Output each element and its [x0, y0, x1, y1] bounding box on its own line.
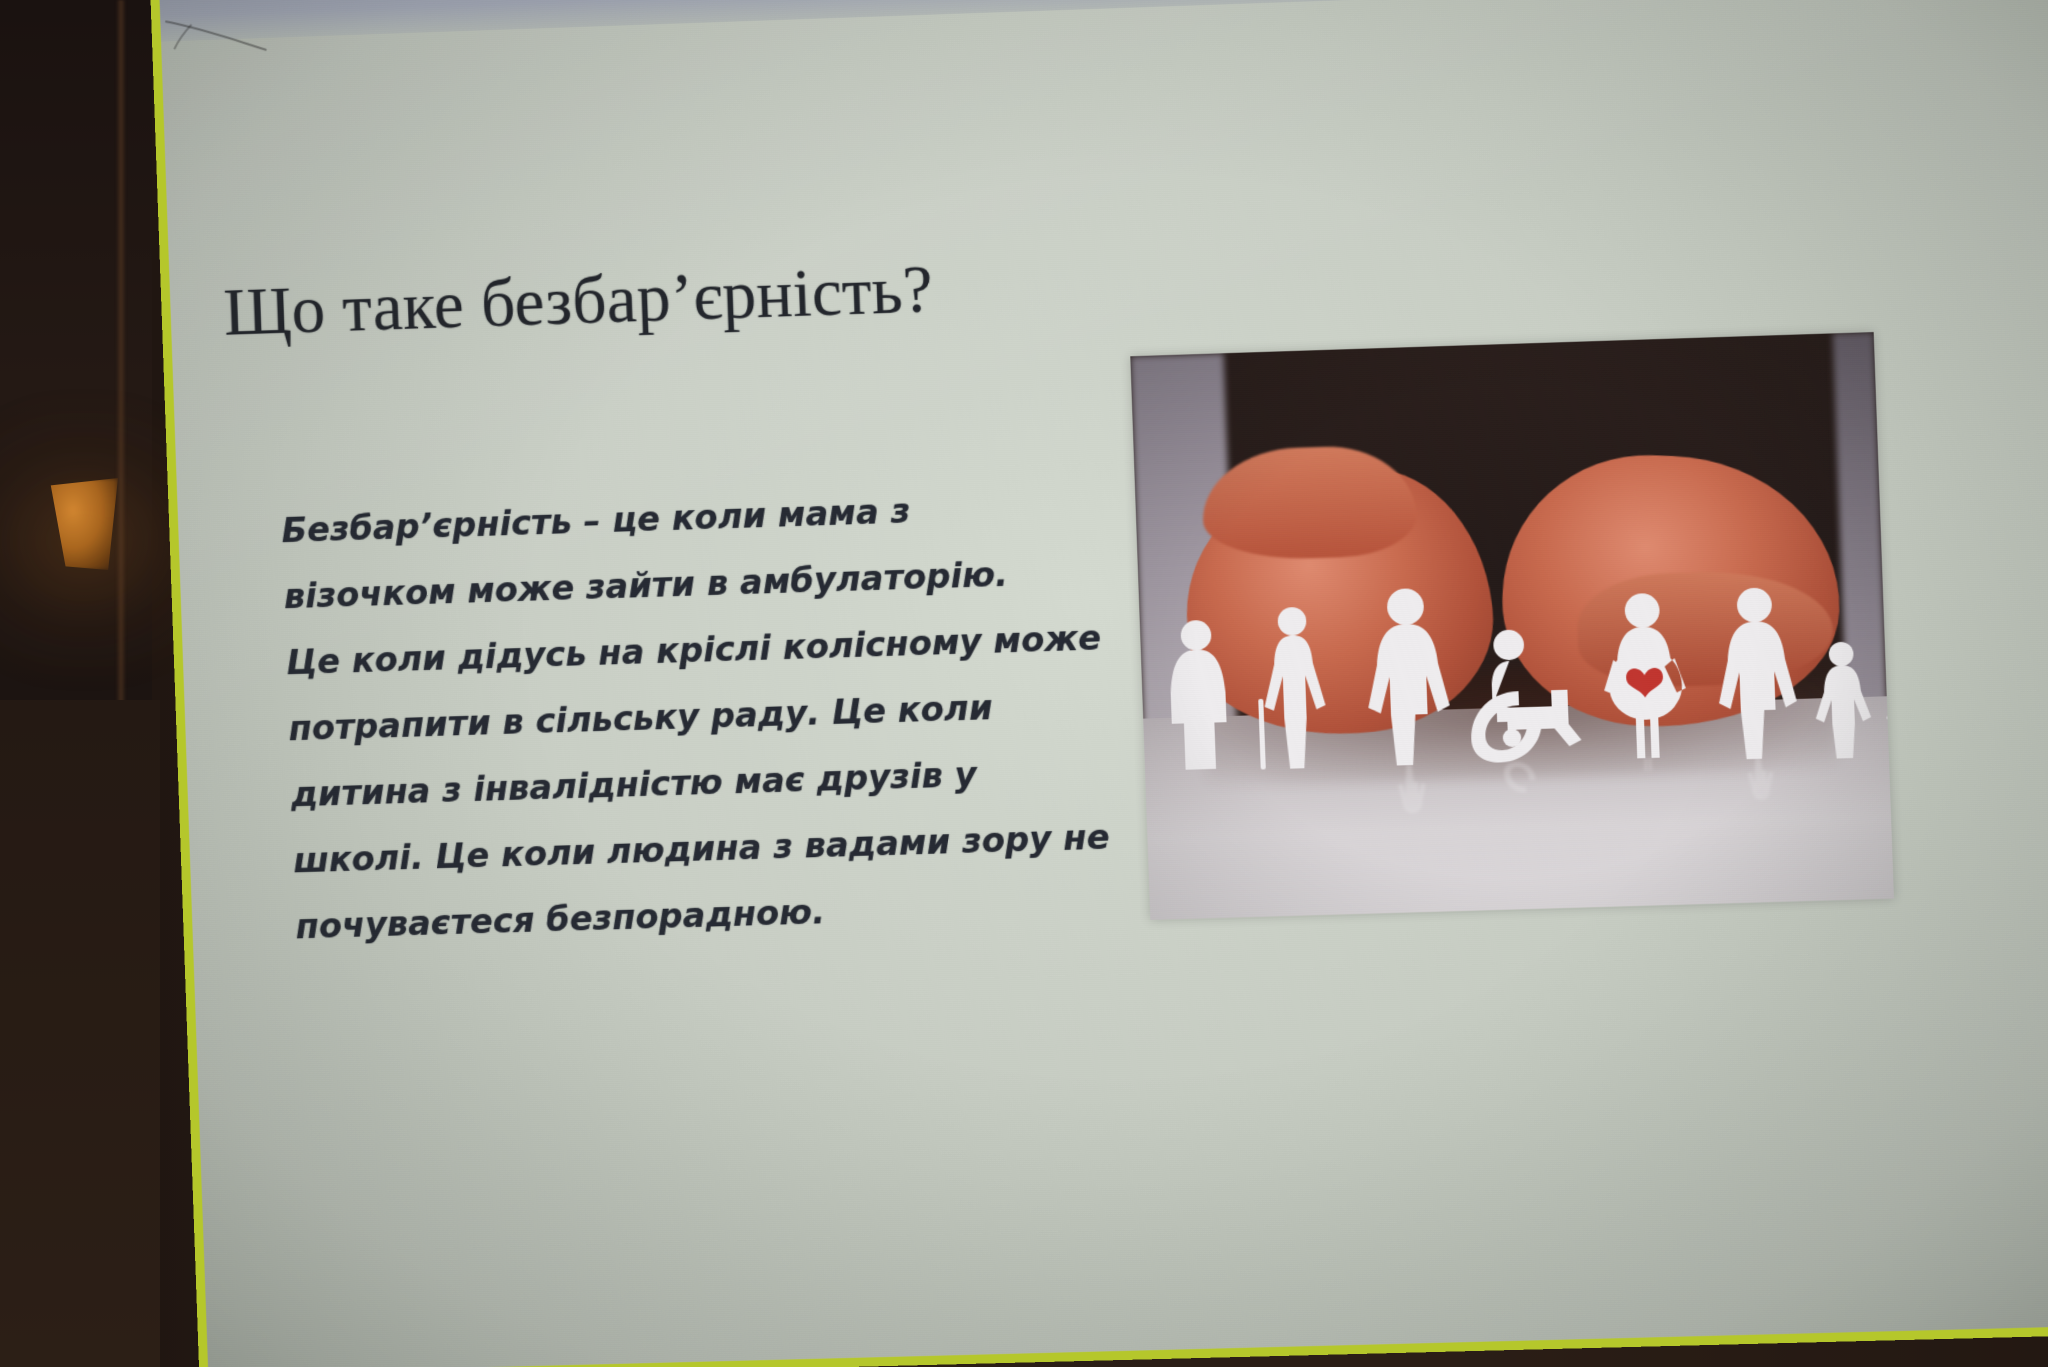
child-figure-icon — [1807, 640, 1879, 759]
photo-figure-reflection — [1468, 760, 1590, 822]
woman-figure-icon — [1158, 617, 1238, 770]
wheelchair-user-figure-icon — [1463, 627, 1588, 764]
photo-figure-reflection — [1601, 757, 1697, 812]
adult-figure-icon — [1705, 585, 1809, 760]
projection-screen-area: Що таке безбар’єрність? Безбар’єрність –… — [0, 0, 2048, 1367]
presentation-slide: Що таке безбар’єрність? Безбар’єрність –… — [150, 0, 2048, 1367]
slide-photo — [1130, 332, 1894, 920]
slide-content: Що таке безбар’єрність? Безбар’єрність –… — [150, 0, 2048, 1367]
page-title: Що таке безбар’єрність? — [222, 236, 1486, 349]
photo-figure-reflection — [1711, 753, 1811, 813]
photo-figure-reflection — [1360, 764, 1464, 828]
projected-slide-photo: Що таке безбар’єрність? Безбар’єрність –… — [0, 0, 2048, 1367]
pregnant-woman-with-heart-figure-icon — [1595, 591, 1695, 759]
person-with-cane-figure-icon — [1253, 604, 1336, 770]
slide-body-text: Безбар’єрність – це коли мама з візочком… — [280, 476, 991, 960]
adult-figure-icon — [1354, 586, 1462, 767]
